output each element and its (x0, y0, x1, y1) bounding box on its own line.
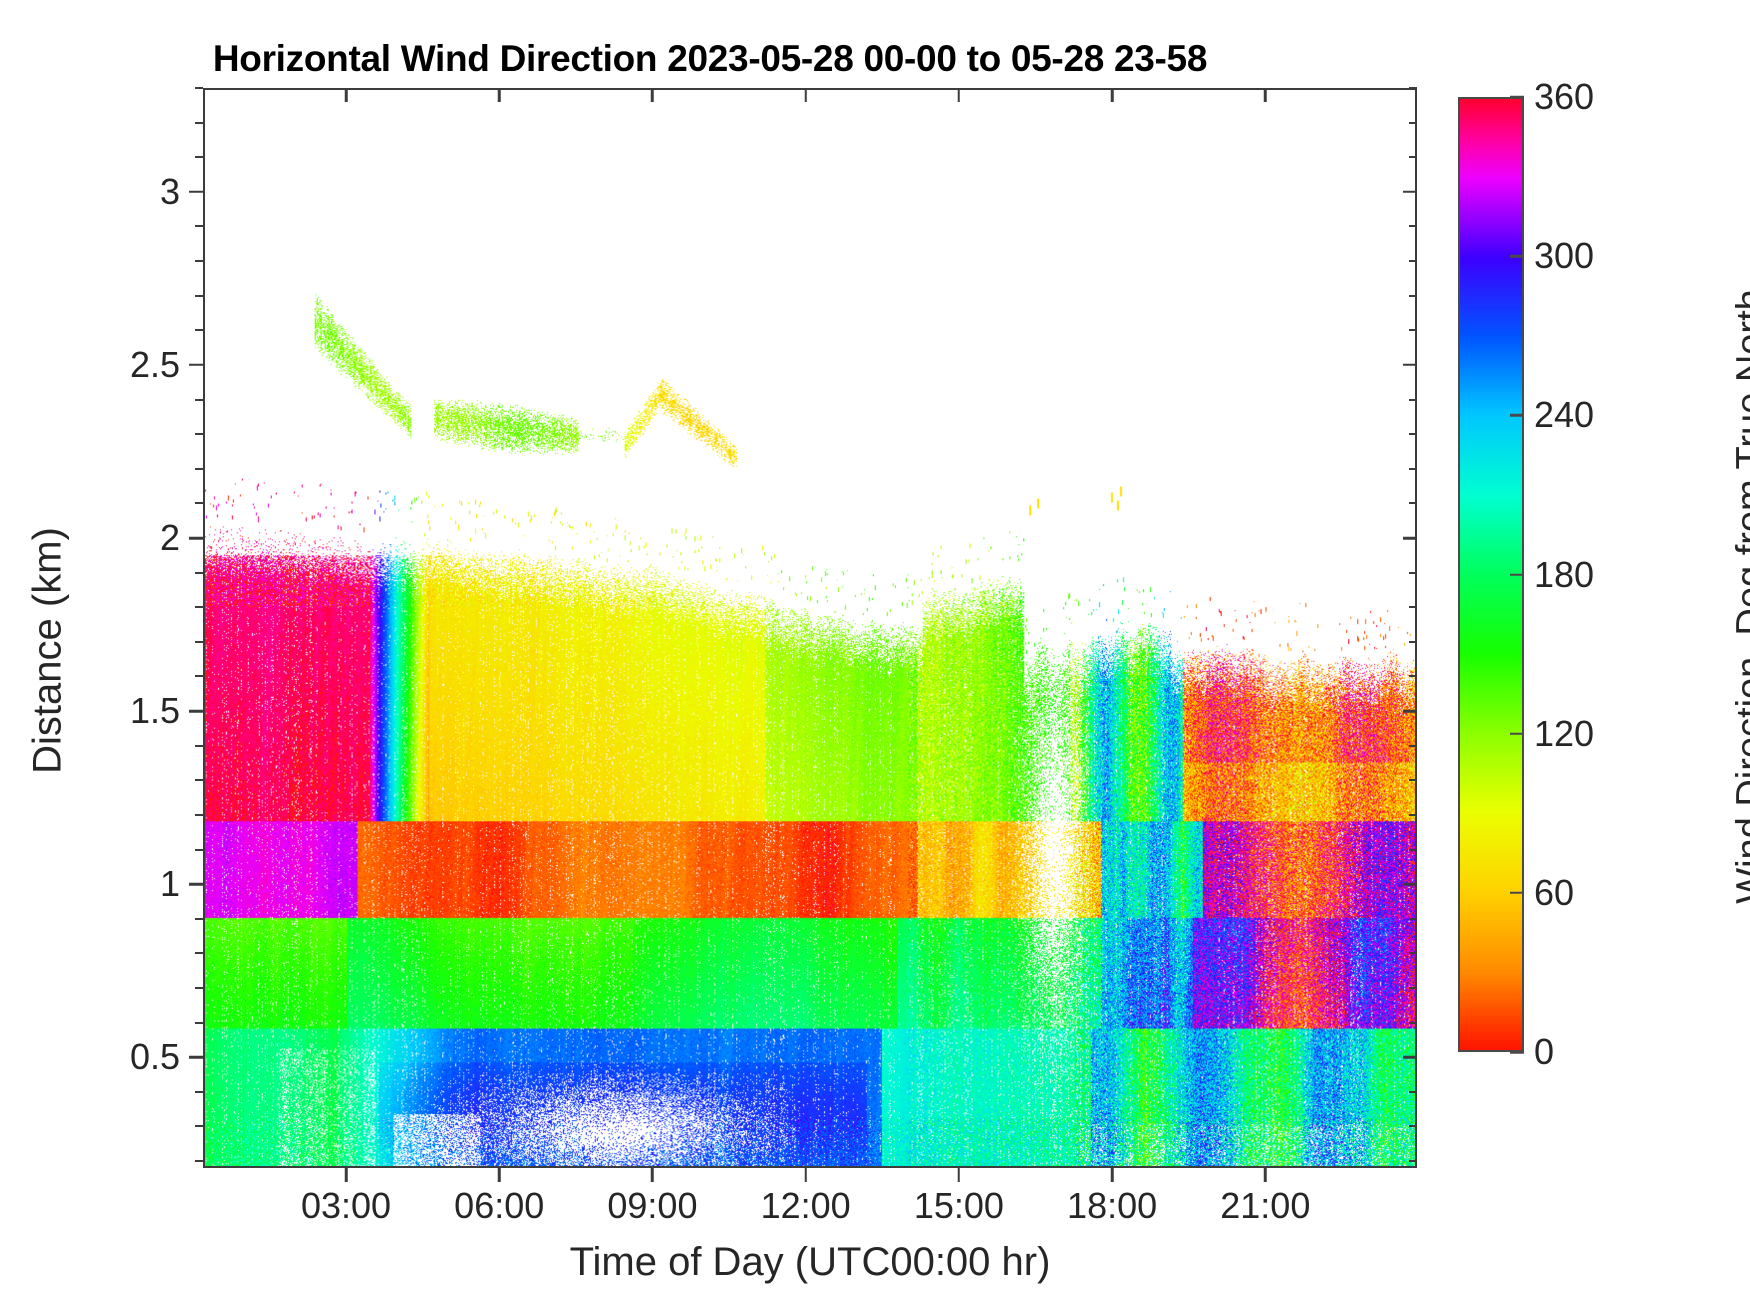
y-minor-tick-right (1409, 433, 1417, 435)
x-tick-mark (804, 1168, 807, 1182)
y-tick-mark-right (1403, 191, 1417, 194)
y-minor-tick-right (1409, 572, 1417, 574)
x-tick-mark-top (345, 88, 348, 102)
x-tick-mark (1264, 1168, 1267, 1182)
y-minor-tick (195, 225, 203, 227)
y-minor-tick-right (1409, 399, 1417, 401)
y-minor-tick-right (1409, 1160, 1417, 1162)
y-minor-tick (195, 606, 203, 608)
colorbar-tick-label: 60 (1534, 872, 1574, 914)
colorbar-tick-mark (1510, 892, 1524, 895)
y-minor-tick-right (1409, 502, 1417, 504)
y-minor-tick-right (1409, 641, 1417, 643)
x-tick-mark-top (804, 88, 807, 102)
y-minor-tick (195, 572, 203, 574)
y-minor-tick-right (1409, 987, 1417, 989)
x-tick-mark (345, 1168, 348, 1182)
colorbar-tick-mark (1510, 732, 1524, 735)
y-minor-tick-right (1409, 156, 1417, 158)
y-minor-tick-right (1409, 468, 1417, 470)
y-tick-mark (189, 883, 203, 886)
y-minor-tick (195, 122, 203, 124)
y-minor-tick (195, 987, 203, 989)
y-minor-tick-right (1409, 122, 1417, 124)
y-minor-tick-right (1409, 952, 1417, 954)
x-tick-mark-top (1111, 88, 1114, 102)
colorbar-tick-label: 240 (1534, 394, 1594, 436)
y-tick-mark (189, 537, 203, 540)
colorbar-tick-label: 180 (1534, 554, 1594, 596)
y-minor-tick (195, 675, 203, 677)
y-minor-tick-right (1409, 814, 1417, 816)
colorbar-tick-mark (1510, 96, 1524, 99)
x-tick-label: 12:00 (761, 1185, 851, 1227)
figure-container: Horizontal Wind Direction 2023-05-28 00-… (0, 0, 1750, 1313)
x-tick-label: 21:00 (1220, 1185, 1310, 1227)
y-tick-mark-right (1403, 364, 1417, 367)
y-minor-tick (195, 399, 203, 401)
x-tick-mark-top (958, 88, 961, 102)
x-tick-mark-top (498, 88, 501, 102)
colorbar-tick-mark (1510, 1051, 1524, 1054)
y-minor-tick (195, 849, 203, 851)
x-tick-label: 06:00 (454, 1185, 544, 1227)
plot-axes (203, 88, 1417, 1168)
x-tick-label: 09:00 (607, 1185, 697, 1227)
x-tick-mark (958, 1168, 961, 1182)
y-minor-tick-right (1409, 918, 1417, 920)
y-minor-tick-right (1409, 329, 1417, 331)
colorbar-tick-mark (1510, 255, 1524, 258)
colorbar-tick-label: 360 (1534, 76, 1594, 118)
y-minor-tick-right (1409, 260, 1417, 262)
y-tick-label: 3 (60, 171, 180, 213)
colorbar-label: Wind Direction, Deg from True North (1730, 237, 1750, 957)
y-minor-tick (195, 641, 203, 643)
x-axis-label: Time of Day (UTC00:00 hr) (203, 1240, 1417, 1285)
y-minor-tick (195, 814, 203, 816)
y-minor-tick (195, 260, 203, 262)
y-minor-tick (195, 433, 203, 435)
y-minor-tick (195, 329, 203, 331)
y-tick-label: 1 (60, 863, 180, 905)
y-tick-mark (189, 364, 203, 367)
y-tick-label: 0.5 (60, 1036, 180, 1078)
y-minor-tick (195, 1022, 203, 1024)
y-minor-tick-right (1409, 779, 1417, 781)
y-tick-mark (189, 191, 203, 194)
y-minor-tick (195, 918, 203, 920)
y-tick-label: 2.5 (60, 344, 180, 386)
y-tick-mark-right (1403, 710, 1417, 713)
y-minor-tick-right (1409, 1022, 1417, 1024)
y-tick-mark (189, 1056, 203, 1059)
colorbar-tick-label: 120 (1534, 713, 1594, 755)
x-tick-label: 03:00 (301, 1185, 391, 1227)
y-tick-label: 1.5 (60, 690, 180, 732)
colorbar-tick-mark (1510, 414, 1524, 417)
y-axis-label: Distance (km) (26, 371, 71, 931)
y-minor-tick (195, 295, 203, 297)
y-minor-tick-right (1409, 225, 1417, 227)
x-tick-mark-top (651, 88, 654, 102)
x-tick-label: 15:00 (914, 1185, 1004, 1227)
y-minor-tick (195, 779, 203, 781)
y-tick-mark-right (1403, 883, 1417, 886)
y-minor-tick (195, 502, 203, 504)
colorbar-tick-label: 300 (1534, 235, 1594, 277)
y-minor-tick-right (1409, 87, 1417, 89)
x-tick-mark-top (1264, 88, 1267, 102)
wind-direction-heatmap (205, 90, 1415, 1166)
y-minor-tick (195, 1091, 203, 1093)
y-minor-tick-right (1409, 745, 1417, 747)
x-tick-mark (651, 1168, 654, 1182)
colorbar-tick-label: 0 (1534, 1031, 1554, 1073)
x-tick-label: 18:00 (1067, 1185, 1157, 1227)
y-tick-mark (189, 710, 203, 713)
y-tick-label: 2 (60, 517, 180, 559)
y-minor-tick (195, 952, 203, 954)
y-minor-tick-right (1409, 295, 1417, 297)
y-minor-tick (195, 745, 203, 747)
y-minor-tick-right (1409, 849, 1417, 851)
y-tick-mark-right (1403, 537, 1417, 540)
y-minor-tick (195, 468, 203, 470)
chart-title: Horizontal Wind Direction 2023-05-28 00-… (0, 38, 1420, 80)
x-tick-mark (1111, 1168, 1114, 1182)
colorbar-tick-mark (1510, 573, 1524, 576)
y-minor-tick-right (1409, 1091, 1417, 1093)
y-minor-tick-right (1409, 606, 1417, 608)
y-minor-tick (195, 1125, 203, 1127)
y-tick-mark-right (1403, 1056, 1417, 1059)
y-minor-tick (195, 87, 203, 89)
y-minor-tick (195, 156, 203, 158)
x-tick-mark (498, 1168, 501, 1182)
y-minor-tick-right (1409, 675, 1417, 677)
y-minor-tick (195, 1160, 203, 1162)
y-minor-tick-right (1409, 1125, 1417, 1127)
